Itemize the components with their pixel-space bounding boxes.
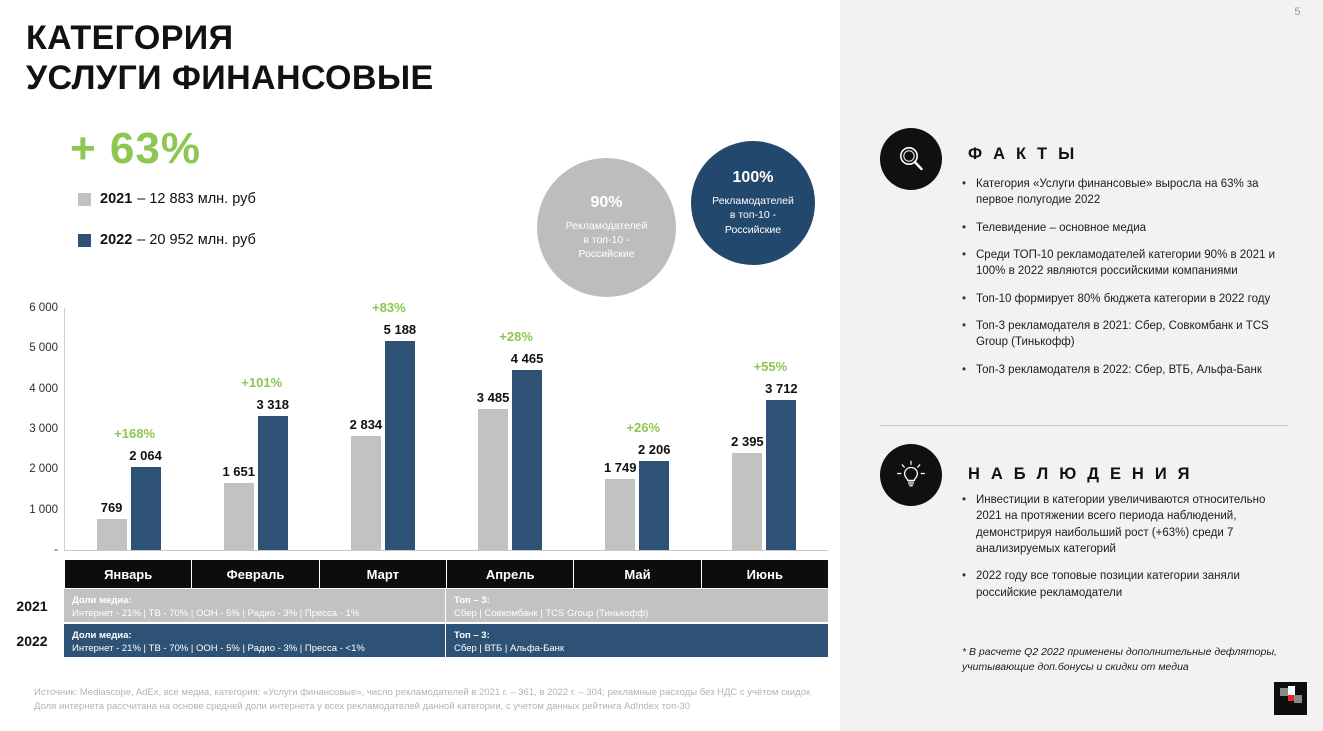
chart-bar-label-2022: 2 064: [129, 448, 162, 463]
fact-item-text: Среди ТОП-10 рекламодателей категории 90…: [976, 247, 1292, 280]
observation-item: •Инвестиции в категории увеличиваются от…: [962, 492, 1292, 557]
table-row-2021-top-title: Топ – 3:: [454, 595, 828, 608]
table-row-2021: 2021 Доли медиа: Интернет - 21% | ТВ - 7…: [0, 589, 828, 622]
chart-group: 1 6513 318+101%: [192, 308, 319, 550]
bar-chart: 6 0005 0004 0003 0002 0001 000- 7692 064…: [0, 300, 840, 562]
table-row-2022-top-title: Топ – 3:: [454, 630, 828, 643]
legend-value-2021: – 12 883 млн. руб: [137, 191, 256, 207]
observation-item-text: 2022 году все топовые позиции категории …: [976, 568, 1292, 601]
chart-bar-2021[interactable]: [732, 453, 762, 550]
observation-item: •2022 году все топовые позиции категории…: [962, 568, 1292, 601]
stat-circle-2022-percent: 100%: [733, 169, 774, 187]
page-title-line2: УСЛУГИ ФИНАНСОВЫЕ: [26, 58, 434, 98]
source-note-line1: Источник: Mediascope, AdEx, все медиа, к…: [34, 686, 934, 700]
chart-y-tick: 1 000: [29, 504, 58, 516]
month-header-cell: Май: [574, 560, 701, 588]
chart-bar-label-2021: 2 395: [731, 434, 764, 449]
facts-list: •Категория «Услуги финансовые» выросла н…: [962, 176, 1292, 389]
observation-item-text: Инвестиции в категории увеличиваются отн…: [976, 492, 1292, 557]
page-number: 5: [1294, 6, 1301, 18]
stat-circle-2021-text: Рекламодателейв топ-10 -Российские: [566, 219, 648, 262]
fact-item-text: Категория «Услуги финансовые» выросла на…: [976, 176, 1292, 209]
chart-bar-2022[interactable]: [512, 370, 542, 550]
chart-y-tick: 6 000: [29, 302, 58, 314]
chart-baseline: [64, 550, 828, 551]
table-row-2022: 2022 Доли медиа: Интернет - 21% | ТВ - 7…: [0, 624, 828, 657]
table-row-2021-media-body: Интернет - 21% | ТВ - 70% | ООН - 5% | Р…: [72, 608, 445, 621]
chart-bar-label-2021: 3 485: [477, 390, 510, 405]
chart-legend: 2021 – 12 883 млн. руб 2022 – 20 952 млн…: [78, 188, 256, 270]
chart-bar-2022[interactable]: [258, 416, 288, 550]
table-row-2022-top-body: Сбер | ВТБ | Альфа-Банк: [454, 643, 828, 656]
chart-bar-2022[interactable]: [385, 341, 415, 550]
source-note: Источник: Mediascope, AdEx, все медиа, к…: [34, 686, 934, 715]
table-row-2021-media-title: Доли медиа:: [72, 595, 445, 608]
chart-y-tick: 4 000: [29, 383, 58, 395]
bullet-dot-icon: •: [962, 362, 976, 378]
table-row-2022-top: Топ – 3: Сбер | ВТБ | Альфа-Банк: [446, 624, 828, 657]
chart-group: 1 7492 206+26%: [574, 308, 701, 550]
chart-bar-label-2022: 4 465: [511, 351, 544, 366]
chart-bar-2021[interactable]: [224, 483, 254, 550]
facts-title: Ф А К Т Ы: [968, 145, 1077, 164]
slide: 5 КАТЕГОРИЯ УСЛУГИ ФИНАНСОВЫЕ + 63% 2021…: [0, 0, 1323, 731]
chart-bar-2021[interactable]: [97, 519, 127, 550]
month-header-cell: Апрель: [447, 560, 574, 588]
section-divider: [880, 425, 1288, 426]
bullet-dot-icon: •: [962, 568, 976, 601]
chart-growth-annotation: +28%: [499, 329, 533, 344]
fact-item: •Топ-10 формирует 80% бюджета категории …: [962, 291, 1292, 307]
table-row-2021-top-body: Сбер | Совкомбанк | TCS Group (Тинькофф): [454, 608, 828, 621]
stat-circle-2021-percent: 90%: [590, 194, 622, 212]
chart-y-tick: 3 000: [29, 423, 58, 435]
lightbulb-icon: [880, 444, 942, 506]
legend-year-2022: 2022: [100, 232, 132, 248]
bullet-dot-icon: •: [962, 220, 976, 236]
month-header-row: ЯнварьФевральМартАпрельМайИюнь: [65, 560, 828, 588]
fact-item-text: Топ-3 рекламодателя в 2022: Сбер, ВТБ, А…: [976, 362, 1262, 378]
chart-growth-annotation: +26%: [626, 420, 660, 435]
chart-bar-label-2022: 3 318: [256, 397, 289, 412]
fact-item-text: Топ-3 рекламодателя в 2021: Сбер, Совком…: [976, 318, 1292, 351]
fact-item: •Категория «Услуги финансовые» выросла н…: [962, 176, 1292, 209]
legend-item-2021: 2021 – 12 883 млн. руб: [78, 188, 256, 210]
bullet-dot-icon: •: [962, 318, 976, 351]
chart-bar-label-2021: 1 651: [222, 464, 255, 479]
observations-title: Н А Б Л Ю Д Е Н И Я: [968, 465, 1193, 484]
fact-item: •Топ-3 рекламодателя в 2022: Сбер, ВТБ, …: [962, 362, 1292, 378]
chart-bar-2022[interactable]: [131, 467, 161, 550]
chart-y-tick: -: [54, 544, 58, 556]
source-note-line2: Доля интернета рассчитана на основе сред…: [34, 700, 934, 714]
month-header-cell: Июнь: [702, 560, 828, 588]
chart-y-tick: 2 000: [29, 463, 58, 475]
footnote: * В расчете Q2 2022 применены дополнител…: [962, 645, 1290, 675]
chart-group: 3 4854 465+28%: [447, 308, 574, 550]
chart-growth-annotation: +101%: [241, 375, 282, 390]
fact-item-text: Телевидение – основное медиа: [976, 220, 1146, 236]
chart-bar-2021[interactable]: [478, 409, 508, 550]
month-header-cell: Февраль: [192, 560, 319, 588]
legend-value-2022: – 20 952 млн. руб: [137, 232, 256, 248]
chart-bar-label-2022: 2 206: [638, 442, 671, 457]
legend-year-2021: 2021: [100, 191, 132, 207]
chart-growth-annotation: +55%: [754, 359, 788, 374]
total-growth-value: + 63%: [70, 124, 201, 174]
chart-plot-area: 7692 064+168%1 6513 318+101%2 8345 188+8…: [65, 308, 828, 550]
chart-bar-label-2022: 3 712: [765, 381, 798, 396]
table-row-2022-media-title: Доли медиа:: [72, 630, 445, 643]
fact-item-text: Топ-10 формирует 80% бюджета категории в…: [976, 291, 1270, 307]
chart-bar-2021[interactable]: [351, 436, 381, 550]
chart-bar-2022[interactable]: [766, 400, 796, 550]
brand-logo: [1274, 682, 1307, 715]
bullet-dot-icon: •: [962, 247, 976, 280]
chart-group: 2 8345 188+83%: [319, 308, 446, 550]
table-row-2022-media-body: Интернет - 21% | ТВ - 70% | ООН - 5% | Р…: [72, 643, 445, 656]
magnifier-icon: [880, 128, 942, 190]
table-row-2022-year: 2022: [0, 624, 64, 657]
chart-y-tick: 5 000: [29, 342, 58, 354]
stat-circle-2022: 100% Рекламодателейв топ-10 -Российские: [691, 141, 815, 265]
month-header-cell: Январь: [65, 560, 192, 588]
legend-swatch-2021: [78, 193, 91, 206]
chart-growth-annotation: +83%: [372, 300, 406, 315]
table-row-2021-year: 2021: [0, 589, 64, 622]
chart-group: 7692 064+168%: [65, 308, 192, 550]
month-header-cell: Март: [320, 560, 447, 588]
fact-item: •Телевидение – основное медиа: [962, 220, 1292, 236]
bullet-dot-icon: •: [962, 492, 976, 557]
chart-bar-2021[interactable]: [605, 479, 635, 550]
page-title-line1: КАТЕГОРИЯ: [26, 18, 434, 58]
chart-growth-annotation: +168%: [114, 426, 155, 441]
chart-group: 2 3953 712+55%: [701, 308, 828, 550]
page-title: КАТЕГОРИЯ УСЛУГИ ФИНАНСОВЫЕ: [26, 18, 434, 98]
bullet-dot-icon: •: [962, 176, 976, 209]
chart-bar-label-2021: 1 749: [604, 460, 637, 475]
chart-bar-label-2022: 5 188: [384, 322, 417, 337]
chart-bar-2022[interactable]: [639, 461, 669, 550]
table-row-2021-media: Доли медиа: Интернет - 21% | ТВ - 70% | …: [64, 589, 446, 622]
bullet-dot-icon: •: [962, 291, 976, 307]
stat-circle-2021: 90% Рекламодателейв топ-10 -Российские: [537, 158, 676, 297]
chart-y-axis: 6 0005 0004 0003 0002 0001 000-: [0, 300, 58, 550]
legend-item-2022: 2022 – 20 952 млн. руб: [78, 229, 256, 251]
legend-swatch-2022: [78, 234, 91, 247]
chart-bar-label-2021: 2 834: [350, 417, 383, 432]
fact-item: •Топ-3 рекламодателя в 2021: Сбер, Совко…: [962, 318, 1292, 351]
observations-list: •Инвестиции в категории увеличиваются от…: [962, 492, 1292, 612]
stat-circle-2022-text: Рекламодателейв топ-10 -Российские: [712, 194, 794, 237]
table-row-2022-media: Доли медиа: Интернет - 21% | ТВ - 70% | …: [64, 624, 446, 657]
table-row-2021-top: Топ – 3: Сбер | Совкомбанк | TCS Group (…: [446, 589, 828, 622]
chart-bar-label-2021: 769: [101, 500, 123, 515]
fact-item: •Среди ТОП-10 рекламодателей категории 9…: [962, 247, 1292, 280]
